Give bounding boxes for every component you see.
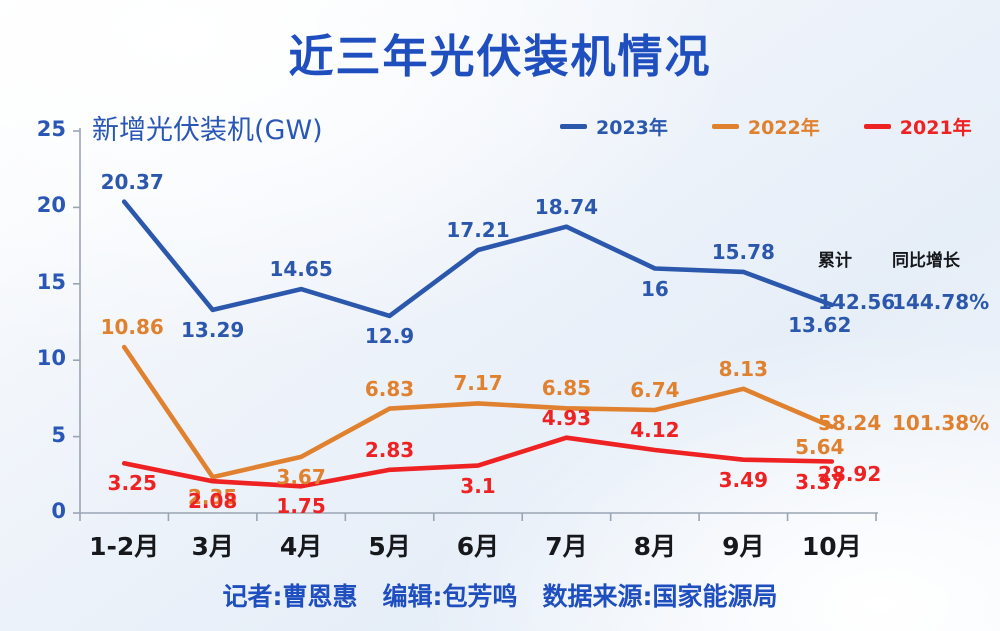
point-label: 6.74 — [612, 378, 698, 402]
point-label: 3.1 — [435, 474, 521, 498]
point-label: 3.67 — [258, 465, 344, 489]
summary-total-2021: 28.92 — [818, 462, 892, 486]
point-label: 17.21 — [435, 218, 521, 242]
point-label: 6.85 — [523, 376, 609, 400]
x-tick-label: 4月 — [257, 527, 345, 563]
point-label: 7.17 — [435, 371, 521, 395]
summary-header-total: 累计 — [818, 246, 892, 271]
x-tick-label: 8月 — [611, 527, 699, 563]
summary-header-growth: 同比增长 — [892, 246, 992, 271]
y-tick-label: 25 — [14, 117, 66, 141]
summary-growth-2022: 101.38% — [892, 411, 996, 435]
summary-total-2022: 58.24 — [818, 411, 892, 435]
point-label: 18.74 — [523, 195, 609, 219]
summary-row-2021: 28.92 — [818, 462, 996, 486]
point-label: 4.12 — [612, 418, 698, 442]
point-label: 10.86 — [89, 315, 175, 339]
point-label: 4.93 — [523, 406, 609, 430]
x-tick-label: 5月 — [345, 527, 433, 563]
point-label: 13.62 — [777, 313, 863, 337]
point-label: 13.29 — [170, 318, 256, 342]
point-label: 16 — [612, 277, 698, 301]
x-tick-label: 9月 — [699, 527, 787, 563]
summary-row-2022: 58.24 101.38% — [818, 411, 996, 435]
x-tick-label: 6月 — [434, 527, 522, 563]
point-label: 2.08 — [170, 489, 256, 513]
x-tick-label: 7月 — [522, 527, 610, 563]
x-tick-label: 1-2月 — [80, 527, 168, 563]
point-label: 12.9 — [347, 324, 433, 348]
point-label: 6.83 — [347, 377, 433, 401]
summary-header-row: 累计 同比增长 — [818, 246, 998, 271]
summary-total-2023: 142.56 — [818, 290, 892, 314]
x-tick-label: 3月 — [168, 527, 256, 563]
footer-credits: 记者:曹恩惠 编辑:包芳鸣 数据来源:国家能源局 — [0, 577, 1000, 613]
y-tick-label: 15 — [14, 270, 66, 294]
point-label: 2.83 — [347, 438, 433, 462]
x-tick-label: 10月 — [788, 527, 876, 563]
point-label: 3.25 — [89, 471, 175, 495]
summary-growth-2023: 144.78% — [892, 290, 996, 314]
y-tick-label: 10 — [14, 346, 66, 370]
summary-table: 累计 同比增长 142.56 144.78% 58.24 101.38% 28.… — [818, 246, 998, 271]
point-label: 14.65 — [258, 257, 344, 281]
y-tick-label: 20 — [14, 193, 66, 217]
chart-page: 近三年光伏装机情况 新增光伏装机(GW) 2023年 2022年 2021年 0… — [0, 0, 1000, 631]
y-tick-label: 5 — [14, 423, 66, 447]
point-label: 8.13 — [700, 357, 786, 381]
point-label: 5.64 — [777, 435, 863, 459]
point-label: 20.37 — [89, 170, 175, 194]
point-label: 1.75 — [258, 494, 344, 518]
summary-row-2023: 142.56 144.78% — [818, 290, 996, 314]
summary-growth-2021 — [892, 462, 996, 486]
point-label: 15.78 — [700, 240, 786, 264]
y-tick-label: 0 — [14, 499, 66, 523]
point-label: 3.49 — [700, 468, 786, 492]
